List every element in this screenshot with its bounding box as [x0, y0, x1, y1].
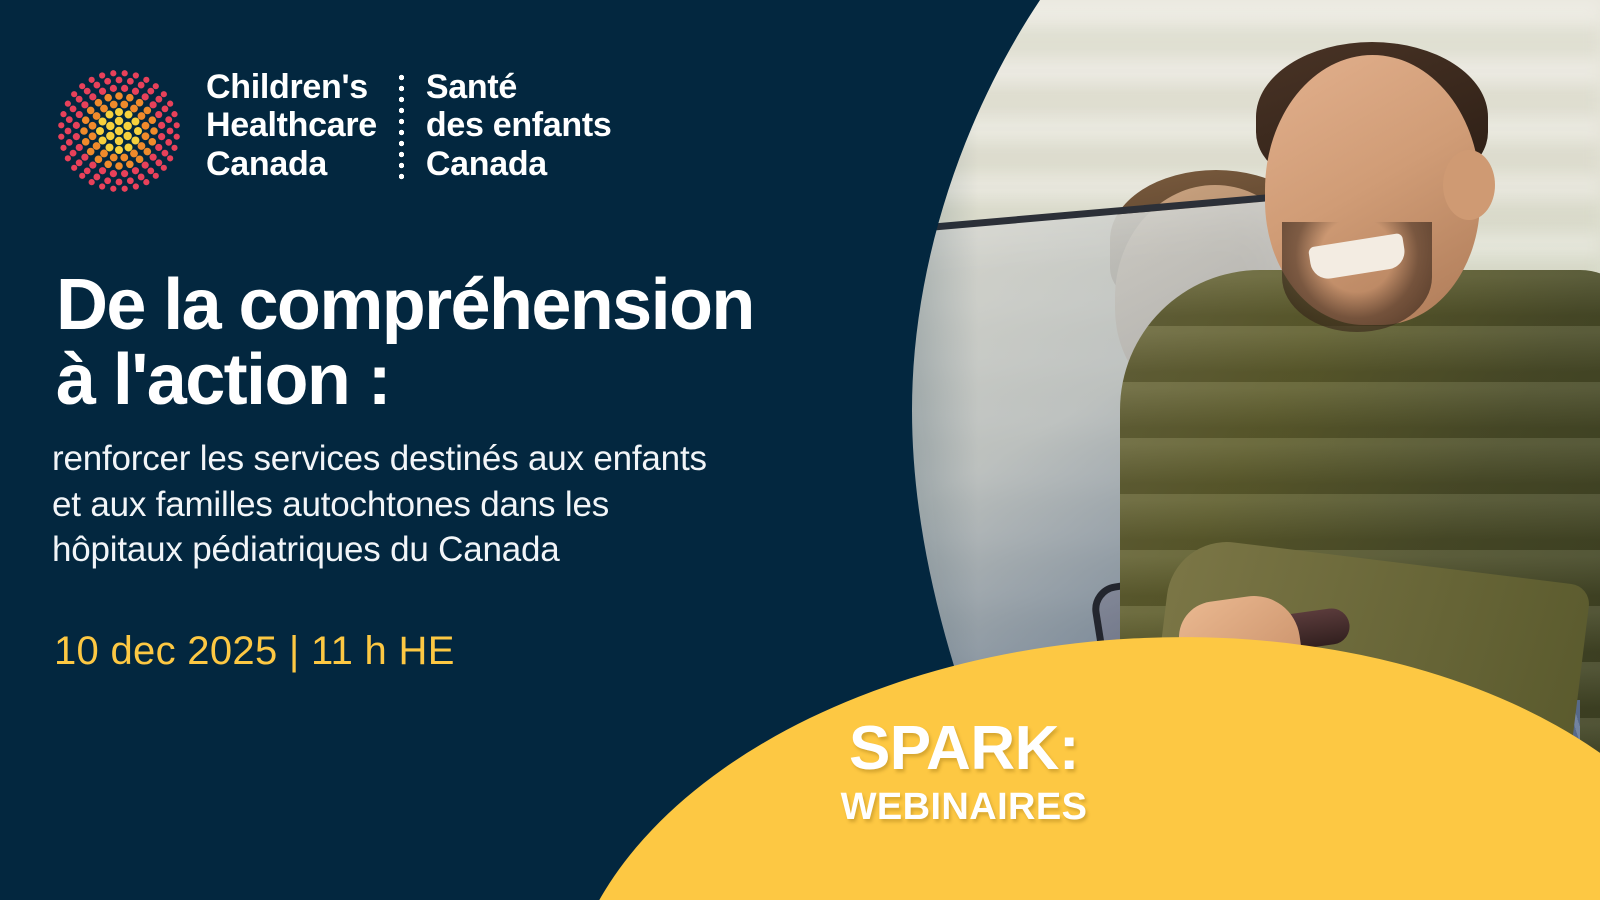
spark-badge-subtitle: WEBINAIRES [784, 788, 1144, 826]
logo-wordmark: Children's Healthcare Canada Santé des e… [206, 68, 612, 183]
webinar-promo-banner: Children's Healthcare Canada Santé des e… [0, 0, 1600, 900]
logo-text-english: Children's Healthcare Canada [206, 68, 377, 183]
event-datetime: 10 dec 2025 | 11 h HE [54, 629, 455, 674]
page-subtitle: renforcer les services destinés aux enfa… [52, 436, 912, 573]
spark-badge: SPARK: WEBINAIRES [784, 718, 1144, 826]
logo-text-french: Santé des enfants Canada [426, 68, 612, 183]
page-title: De la compréhension à l'action : [56, 268, 896, 418]
logo-dotted-divider-icon [399, 72, 404, 183]
brand-logo[interactable]: Children's Healthcare Canada Santé des e… [56, 68, 612, 194]
dot-burst-icon [56, 68, 182, 194]
spark-badge-title: SPARK: [784, 718, 1144, 780]
